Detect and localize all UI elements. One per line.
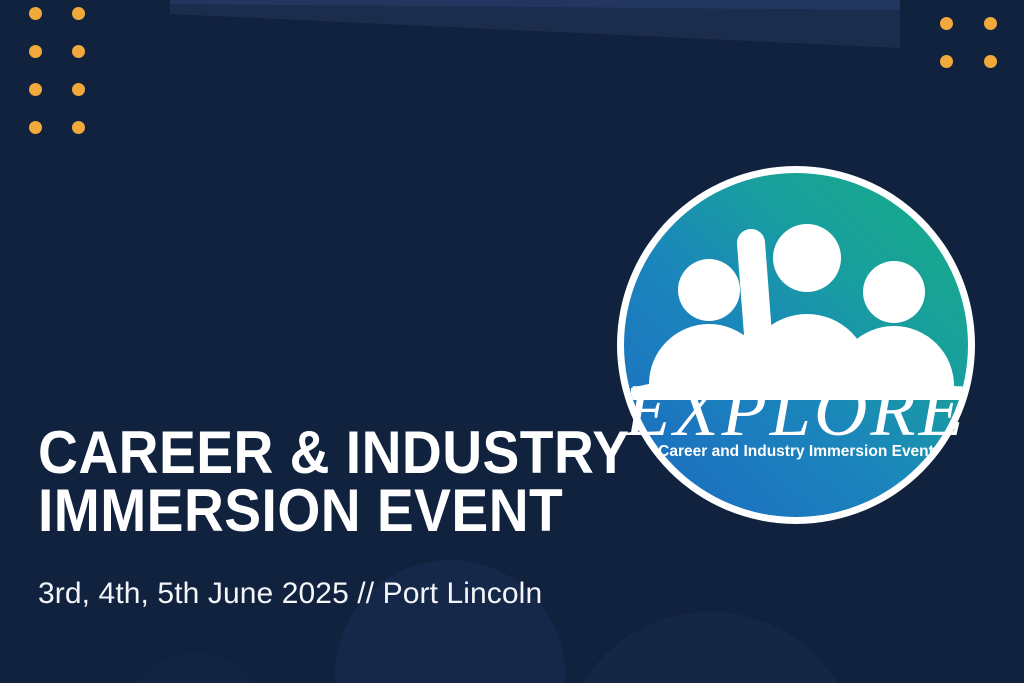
- accent-dot: [984, 55, 997, 68]
- accent-dot: [29, 83, 42, 96]
- top-angled-band: [0, 0, 1024, 60]
- accent-dot: [940, 55, 953, 68]
- accent-dot: [72, 121, 85, 134]
- event-title-line-2: IMMERSION EVENT: [38, 482, 553, 540]
- accent-dot: [29, 45, 42, 58]
- accent-dot: [72, 45, 85, 58]
- accent-dot: [940, 17, 953, 30]
- dot-grid-top-right: [940, 17, 1024, 93]
- dot-grid-top-left: [29, 7, 115, 159]
- explore-logo: EXPLORE Career and Industry Immersion Ev…: [613, 162, 979, 528]
- event-date-location: 3rd, 4th, 5th June 2025 // Port Lincoln: [38, 577, 598, 611]
- accent-dot: [72, 7, 85, 20]
- headline-block: CAREER & INDUSTRY IMMERSION EVENT 3rd, 4…: [38, 424, 598, 611]
- accent-dot: [984, 17, 997, 30]
- event-banner: EXPLORE Career and Industry Immersion Ev…: [0, 0, 1024, 683]
- logo-tagline: Career and Industry Immersion Event: [658, 443, 934, 460]
- event-title-line-1: CAREER & INDUSTRY: [38, 424, 553, 482]
- accent-dot: [29, 121, 42, 134]
- logo-wordmark: EXPLORE: [624, 370, 967, 452]
- accent-dot: [72, 83, 85, 96]
- decor-circle-3: [120, 652, 270, 683]
- decor-circle-2: [560, 612, 860, 683]
- accent-dot: [29, 7, 42, 20]
- explore-logo-graphic: EXPLORE Career and Industry Immersion Ev…: [613, 162, 979, 528]
